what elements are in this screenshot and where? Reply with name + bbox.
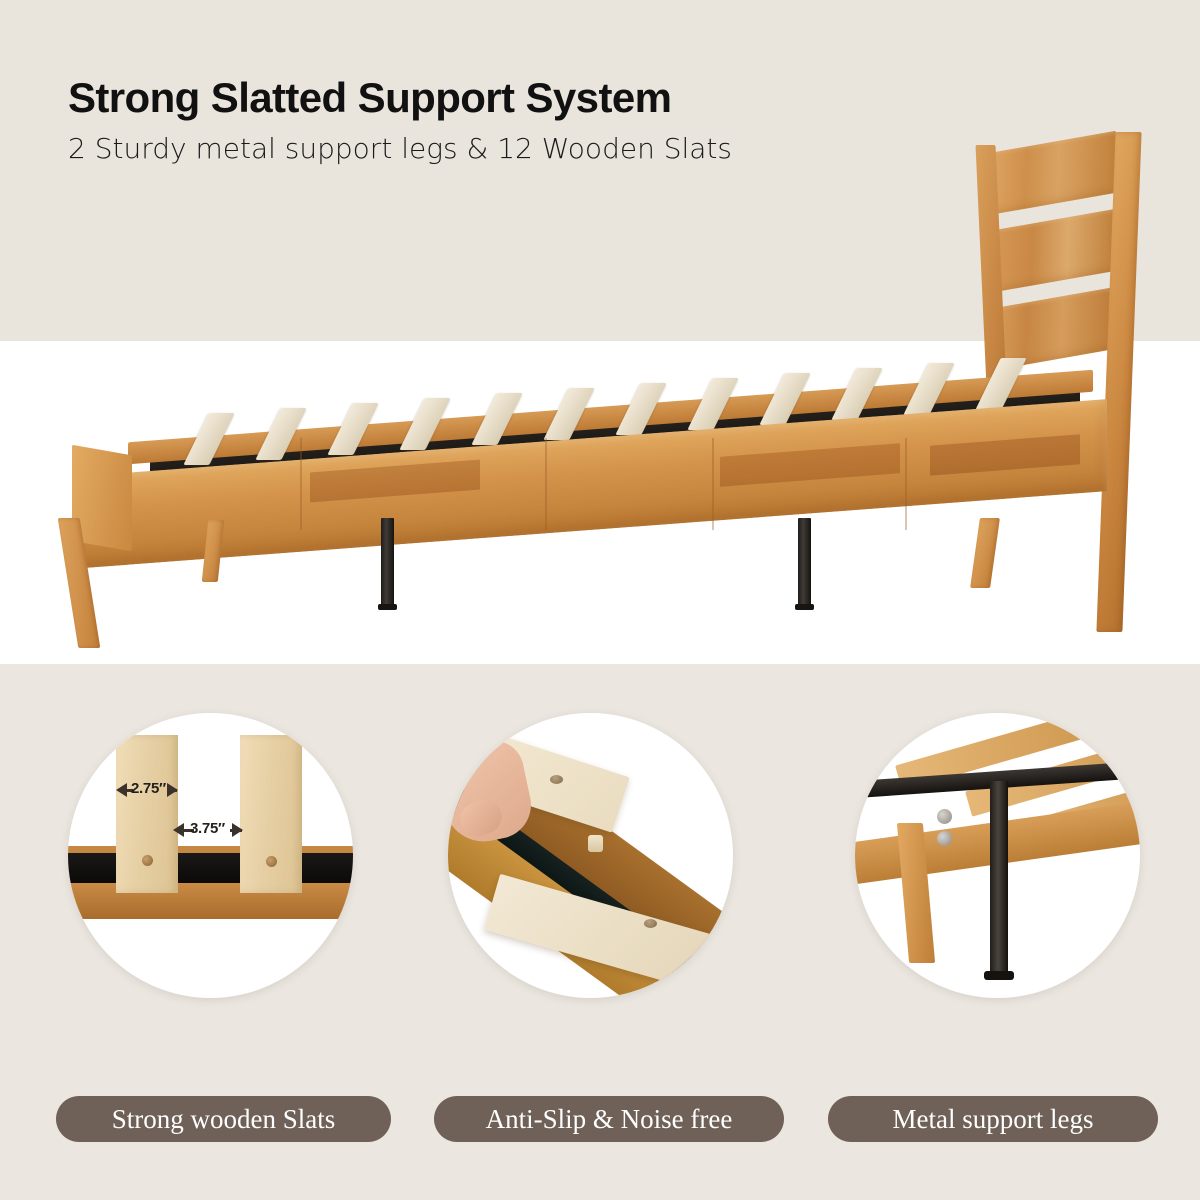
hero-bed-frame-image [0, 120, 1200, 665]
dimension-label-slat-width: 2.75″ [131, 780, 166, 797]
detail-circle-metal-legs [855, 713, 1140, 998]
wooden-slat [116, 735, 178, 893]
dimension-arrow-right-icon [167, 783, 178, 797]
page-title: Strong Slatted Support System [68, 74, 671, 122]
dimension-arrow-right-icon [232, 823, 243, 837]
metal-support-leg [381, 518, 394, 606]
bed-rail [68, 883, 353, 919]
headboard-post-right [1096, 132, 1141, 632]
metal-leg-foot [984, 971, 1014, 980]
caption-pill-metal-legs: Metal support legs [828, 1096, 1158, 1142]
detail-circle-slat-dimensions: 2.75″ 3.75″ [68, 713, 353, 998]
dimension-label-slat-gap: 3.75″ [190, 820, 225, 837]
metal-support-leg [990, 781, 1008, 977]
wooden-slat [240, 735, 302, 893]
slat-hole [550, 775, 563, 784]
screw-head-icon [142, 855, 153, 866]
plank-seam [905, 438, 907, 530]
detail-circle-anti-slip [448, 713, 733, 998]
plank-seam [545, 438, 547, 530]
metal-leg-foot [378, 604, 397, 610]
caption-pill-wooden-slats: Strong wooden Slats [56, 1096, 391, 1142]
anti-slip-felt-strip [68, 853, 353, 883]
bolt-icon [937, 831, 952, 846]
headboard-panel-top [988, 131, 1116, 216]
screw-head-icon [266, 856, 277, 867]
plank-seam [300, 438, 302, 530]
caption-pill-anti-slip: Anti-Slip & Noise free [434, 1096, 784, 1142]
dowel-peg [588, 835, 603, 852]
slat-hole [644, 919, 657, 928]
plank-seam [712, 438, 714, 530]
bolt-icon [937, 809, 952, 824]
metal-leg-foot [795, 604, 814, 610]
metal-support-leg [798, 518, 811, 606]
headboard-panel-middle [988, 209, 1116, 294]
wooden-leg-rear-right [970, 518, 1000, 588]
infographic-page: Strong Slatted Support System 2 Sturdy m… [0, 0, 1200, 1200]
